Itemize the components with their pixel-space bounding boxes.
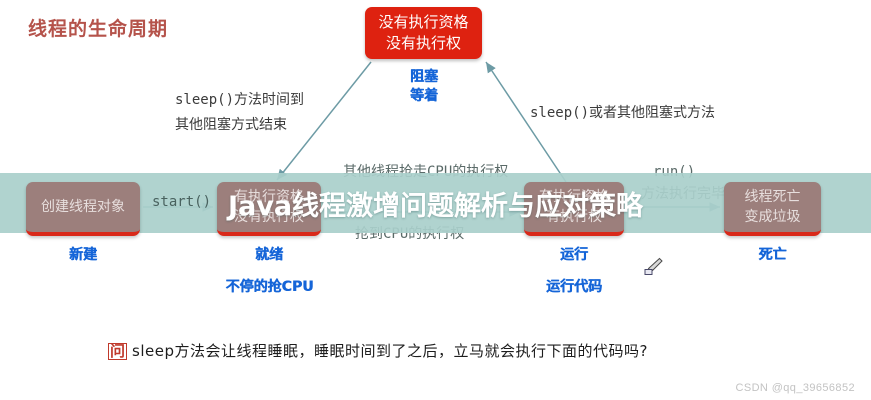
state-box-ready[interactable]: 有执行资格 没有执行权: [217, 182, 321, 236]
state-label-blocked-line1: 阻塞: [383, 68, 465, 87]
state-label-ready: 就绪: [217, 244, 321, 264]
state-sublabel-ready: 不停的抢CPU: [187, 276, 352, 296]
state-box-dead-line2: 变成垃圾: [745, 207, 801, 227]
blocked-box-line2: 没有执行权: [386, 33, 461, 54]
state-box-ready-line1: 有执行资格: [234, 187, 304, 207]
state-label-running: 运行: [524, 244, 624, 264]
note-start-method: start(): [152, 190, 211, 215]
state-label-dead: 死亡: [724, 244, 821, 264]
state-box-dead-line1: 线程死亡: [745, 187, 801, 207]
question-text: sleep方法会让线程睡眠，睡眠时间到了之后，立马就会执行下面的代码吗?: [132, 340, 648, 361]
note-sleep-left-line1: sleep()方法时间到: [175, 88, 304, 113]
state-label-blocked: 阻塞 等着: [383, 68, 465, 106]
state-box-dead[interactable]: 线程死亡 变成垃圾: [724, 182, 821, 236]
note-sleep-left: sleep()方法时间到 其他阻塞方式结束: [175, 88, 304, 138]
state-box-running[interactable]: 有执行资格 有执行权: [524, 182, 624, 236]
state-box-blocked[interactable]: 没有执行资格 没有执行权: [365, 7, 482, 59]
question-marker: 问: [108, 343, 127, 360]
state-label-blocked-line2: 等着: [383, 87, 465, 106]
state-label-new: 新建: [26, 244, 140, 264]
state-sublabel-running: 运行代码: [524, 276, 624, 296]
question-row: 问 sleep方法会让线程睡眠，睡眠时间到了之后，立马就会执行下面的代码吗?: [108, 340, 648, 361]
note-sleep-left-line2: 其他阻塞方式结束: [175, 113, 304, 138]
slide-canvas: 线程的生命周期 没有执行资格 没有执行权 阻塞 等着 sleep()方法时间到: [0, 0, 871, 400]
state-box-ready-line2: 没有执行权: [234, 207, 304, 227]
note-sleep-right: sleep()或者其他阻塞式方法: [530, 101, 715, 126]
state-box-running-line2: 有执行权: [546, 207, 602, 227]
pen-cursor-icon: [643, 256, 665, 278]
state-box-running-line1: 有执行资格: [539, 187, 609, 207]
watermark: CSDN @qq_39656852: [736, 382, 856, 394]
blocked-box-line1: 没有执行资格: [378, 12, 468, 33]
state-box-new[interactable]: 创建线程对象: [26, 182, 140, 236]
state-box-new-line1: 创建线程对象: [41, 197, 125, 217]
